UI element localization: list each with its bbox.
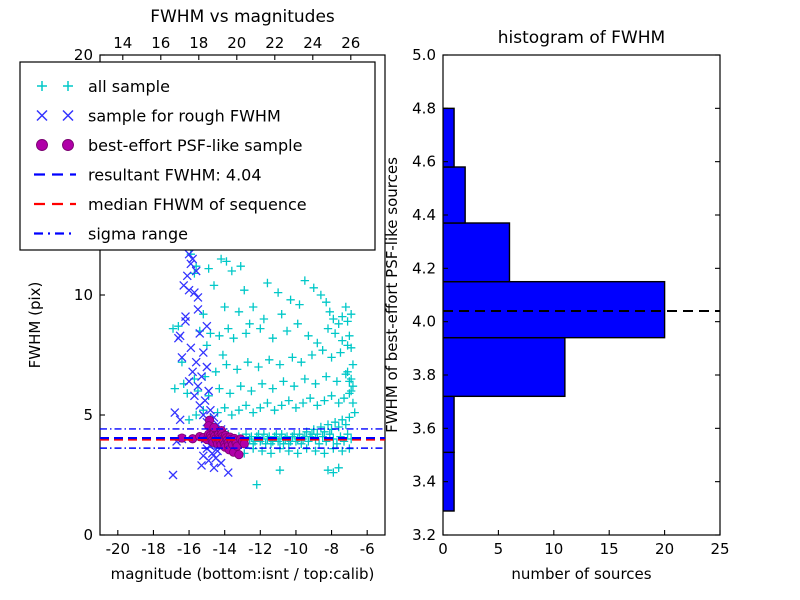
histogram-bar: [443, 396, 454, 452]
left-plot-title: FWHM vs magnitudes: [150, 7, 335, 27]
hist-y-tick-label: 4.8: [412, 99, 436, 117]
histogram-bar: [443, 282, 665, 338]
circle-marker: [240, 440, 248, 448]
circle-marker: [37, 140, 48, 151]
hist-x-tick-label: 0: [438, 540, 448, 558]
top-tick-label: 20: [227, 34, 246, 52]
circle-marker: [63, 140, 74, 151]
left-panel-scatter-plot: -20-18-16-14-12-10-8-6141618202224260510…: [20, 7, 730, 583]
hist-y-tick-label: 3.2: [412, 526, 436, 544]
matplotlib-figure: -20-18-16-14-12-10-8-6141618202224260510…: [0, 0, 800, 600]
histogram-bar: [443, 108, 454, 167]
hist-y-tick-label: 3.8: [412, 366, 436, 384]
circle-marker: [210, 423, 218, 431]
figure-root: -20-18-16-14-12-10-8-6141618202224260510…: [0, 0, 800, 600]
y-tick-label: 0: [83, 526, 93, 544]
top-tick-label: 22: [265, 34, 284, 52]
hist-x-tick-label: 15: [600, 540, 619, 558]
hist-y-tick-label: 3.6: [412, 419, 436, 437]
legend-label-4: median FHWM of sequence: [88, 195, 307, 214]
x-tick-label: -16: [177, 540, 202, 558]
histogram-bar: [443, 338, 565, 397]
x-tick-label: -12: [248, 540, 273, 558]
right-plot-xlabel: number of sources: [511, 565, 651, 583]
top-tick-label: 16: [151, 34, 170, 52]
top-tick-label: 14: [113, 34, 132, 52]
hist-x-tick-label: 25: [710, 540, 729, 558]
y-tick-label: 10: [74, 286, 93, 304]
legend-label-0: all sample: [88, 77, 170, 96]
hist-y-tick-label: 4.0: [412, 313, 436, 331]
right-plot-title: histogram of FWHM: [498, 28, 665, 48]
x-tick-label: -8: [324, 540, 339, 558]
left-plot-xlabel: magnitude (bottom:isnt / top:calib): [111, 565, 375, 583]
y-tick-label: 20: [74, 46, 93, 64]
legend-label-3: resultant FWHM: 4.04: [88, 166, 262, 185]
hist-x-tick-label: 5: [494, 540, 504, 558]
hist-y-tick-label: 4.2: [412, 259, 436, 277]
circle-marker: [235, 450, 243, 458]
hist-y-tick-label: 5.0: [412, 46, 436, 64]
y-tick-label: 5: [83, 406, 93, 424]
legend-label-5: sigma range: [88, 225, 188, 244]
right-panel-histogram: 05101520253.23.43.63.84.04.24.44.64.85.0…: [383, 28, 730, 583]
legend-box: [20, 62, 375, 250]
hist-y-tick-label: 3.4: [412, 473, 436, 491]
hist-y-tick-label: 4.6: [412, 153, 436, 171]
hist-x-tick-label: 10: [544, 540, 563, 558]
hist-x-tick-label: 20: [655, 540, 674, 558]
x-tick-label: -20: [106, 540, 131, 558]
x-tick-label: -14: [212, 540, 237, 558]
legend-label-1: sample for rough FWHM: [88, 107, 281, 126]
x-tick-label: -10: [284, 540, 309, 558]
x-tick-label: -6: [360, 540, 375, 558]
right-plot-ylabel: FWHM of best-effort PSF-like sources: [383, 157, 401, 433]
hist-y-tick-label: 4.4: [412, 206, 436, 224]
left-plot-ylabel: FWHM (pix): [26, 282, 44, 369]
top-tick-label: 24: [303, 34, 322, 52]
top-tick-label: 26: [341, 34, 360, 52]
legend-label-2: best-effort PSF-like sample: [88, 136, 302, 155]
x-tick-label: -18: [141, 540, 166, 558]
histogram-bar: [443, 223, 509, 282]
top-tick-label: 18: [189, 34, 208, 52]
